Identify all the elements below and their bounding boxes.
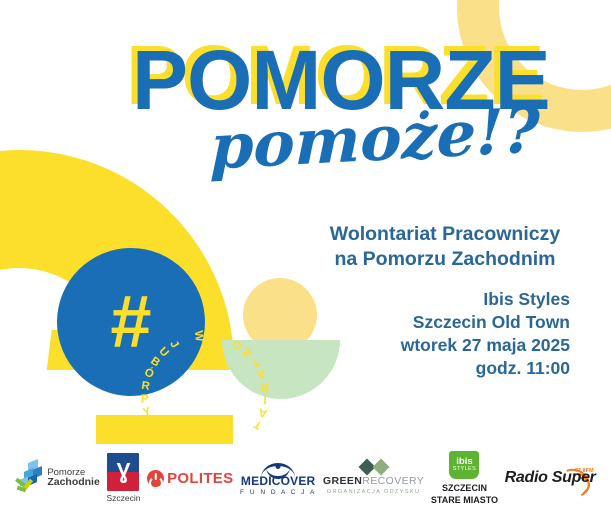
ibis-caption-line-1: SZCZECIN: [431, 482, 498, 494]
green-recovery-diamonds-icon: [361, 461, 387, 473]
polites-wordmark: POLITES: [167, 470, 233, 487]
logo-szczecin: Ɣ Szczecin: [106, 453, 140, 503]
event-poster: POMORZE POMORZE pomoże!? WYPRÓBUJ WOLONT…: [0, 0, 611, 512]
logo-radio-super: 97.8FM Radio Super: [505, 469, 596, 487]
power-icon: [147, 470, 164, 487]
griffin-icon: Ɣ: [116, 461, 130, 483]
logo-ibis-styles: ibis STYLES SZCZECIN STARE MIASTO: [431, 451, 498, 506]
szczecin-caption: Szczecin: [106, 493, 140, 503]
ibis-styles-mark-icon: ibis STYLES: [449, 451, 479, 479]
green-recovery-tagline: ORGANIZACJA ODZYSKU: [327, 489, 421, 495]
headline-line-1: Wolontariat Pracowniczy: [300, 222, 590, 247]
sponsor-logo-strip: Pomorze Zachodnie Ɣ Szczecin POLITES MED…: [0, 444, 611, 512]
radio-frequency: 97.8FM: [575, 468, 594, 474]
logo-pomorze-zachodnie: Pomorze Zachodnie: [15, 461, 100, 495]
decorative-yellow-block: [96, 415, 233, 444]
pomorze-zachodnie-mark-icon: [15, 461, 43, 495]
pomorze-zachodnie-wordmark: Pomorze Zachodnie: [47, 468, 100, 489]
headline-line-2: na Pomorzu Zachodnim: [300, 247, 590, 272]
szczecin-shield-icon: Ɣ: [107, 453, 139, 491]
event-location: Szczecin Old Town: [300, 311, 570, 334]
medicover-mark-icon: [261, 460, 295, 473]
logo-polites: POLITES: [147, 470, 233, 487]
logo-medicover-fundacja: MEDICOVER F U N D A C J A: [240, 460, 316, 496]
pomorze-line-2: Zachodnie: [47, 477, 100, 488]
badge-ring-char: I: [263, 393, 267, 405]
green-recovery-wordmark: GREENRECOVERY: [323, 475, 424, 487]
volunteer-badge: WYPRÓBUJ WOLONTARIAT #: [57, 248, 205, 396]
event-headline: Wolontariat Pracowniczy na Pomorzu Zacho…: [300, 222, 590, 272]
green-recovery-word-1: GREEN: [323, 475, 362, 487]
event-details: Ibis Styles Szczecin Old Town wtorek 27 …: [300, 288, 590, 380]
badge-ring-char: R: [259, 380, 270, 393]
poster-title-text: POMORZE: [132, 33, 550, 127]
ibis-brand-line-2: STYLES: [453, 467, 477, 473]
ibis-caption: SZCZECIN STARE MIASTO: [431, 482, 498, 506]
green-recovery-word-2: RECOVERY: [362, 475, 424, 487]
hashtag-icon: #: [57, 248, 205, 396]
ibis-caption-line-2: STARE MIASTO: [431, 494, 498, 506]
badge-ring-char: O: [205, 331, 218, 342]
event-venue: Ibis Styles: [300, 288, 570, 311]
logo-green-recovery: GREENRECOVERY ORGANIZACJA ODZYSKU: [323, 461, 424, 495]
title-lockup: POMORZE POMORZE pomoże!?: [132, 38, 532, 198]
poster-title: POMORZE POMORZE: [132, 38, 532, 122]
medicover-tagline: F U N D A C J A: [240, 489, 316, 496]
event-time: godz. 11:00: [300, 357, 570, 380]
event-date: wtorek 27 maja 2025: [300, 334, 570, 357]
